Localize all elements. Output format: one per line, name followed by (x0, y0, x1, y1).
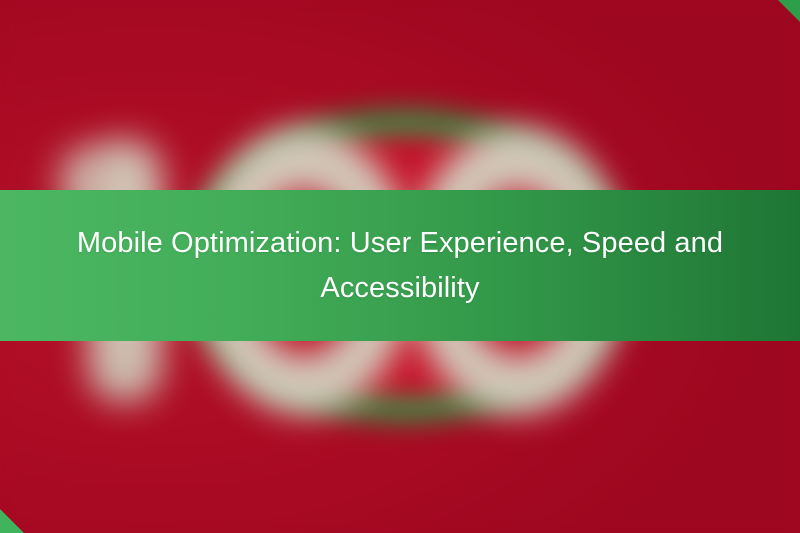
page-title: Mobile Optimization: User Experience, Sp… (35, 221, 765, 311)
corner-accent-top-right (778, 0, 800, 22)
title-banner: Mobile Optimization: User Experience, Sp… (0, 190, 800, 341)
corner-accent-bottom-left (0, 509, 24, 533)
hero-image: Mobile Optimization: User Experience, Sp… (0, 0, 800, 533)
